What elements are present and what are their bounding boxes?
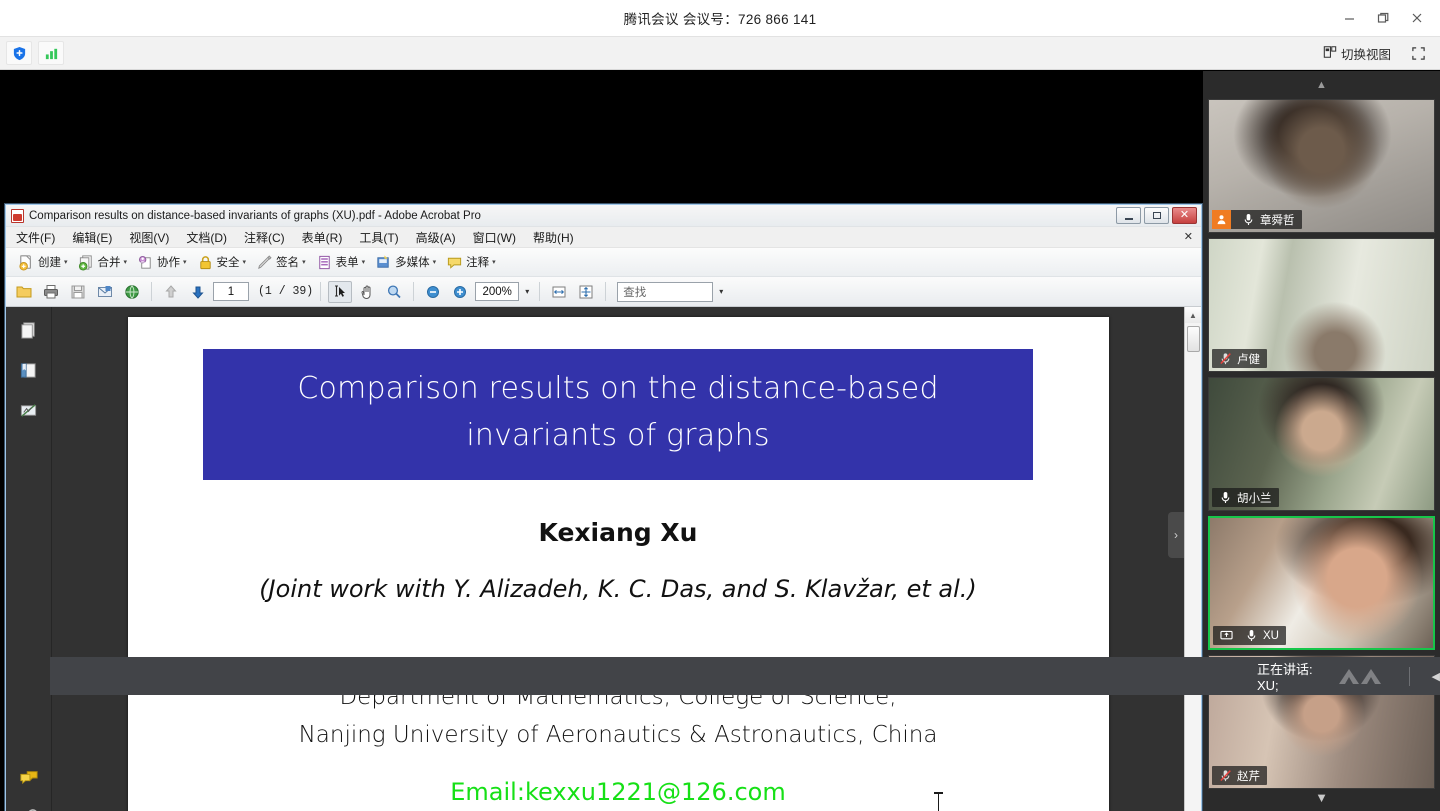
participant-name-chip: 赵芹 [1212, 766, 1267, 785]
zoom-out-icon[interactable] [421, 281, 445, 303]
chevron-down-icon[interactable]: ▾ [243, 258, 247, 266]
menu-window[interactable]: 窗口(W) [473, 229, 516, 246]
toolbar-forms-label: 表单 [336, 254, 359, 270]
create-pdf-icon [18, 254, 35, 271]
toolbar-sign-label: 签名 [276, 254, 299, 270]
menu-forms[interactable]: 表单(R) [302, 229, 343, 246]
shared-screen-stage: Comparison results on distance-based inv… [0, 71, 1203, 811]
acrobat-window: Comparison results on distance-based inv… [5, 204, 1202, 811]
acrobat-window-controls: ✕ [1116, 207, 1197, 224]
toolbar-separator [320, 282, 321, 301]
find-input[interactable]: 查找 [617, 282, 713, 302]
toolbar-combine-label: 合并 [98, 254, 121, 270]
toolbar-separator [605, 282, 606, 301]
participant-name-chip: 胡小兰 [1212, 488, 1279, 507]
toolbar-security-label: 安全 [217, 254, 240, 270]
participant-name: 胡小兰 [1237, 490, 1272, 506]
rail-scroll-up-icon[interactable]: ▲ [1203, 71, 1440, 99]
scroll-up-arrow-icon[interactable]: ▲ [1185, 307, 1202, 323]
slide-author: Kexiang Xu [128, 518, 1109, 547]
print-icon[interactable] [39, 281, 63, 303]
close-button[interactable] [1400, 3, 1434, 33]
slide-affiliation-line-2: Nanjing University of Aeronautics & Astr… [128, 717, 1109, 755]
form-icon [316, 254, 333, 271]
page-thumbnails-icon[interactable] [19, 321, 38, 345]
acrobat-primary-toolbar: 创建 ▾ 合并 ▾ [6, 248, 1201, 277]
pdf-page: Comparison results on the distance-based… [128, 317, 1109, 811]
document-close-button[interactable]: ✕ [1184, 230, 1193, 243]
acrobat-window-title: Comparison results on distance-based inv… [29, 210, 481, 222]
menu-comment[interactable]: 注释(C) [244, 229, 285, 246]
meeting-toolbar-left [0, 41, 64, 65]
meeting-title: 腾讯会议 会议号：726 866 141 [624, 8, 817, 28]
slide-title-line-1: Comparison results on the distance-based [213, 366, 1023, 413]
marquee-zoom-icon[interactable] [382, 281, 406, 303]
pdf-file-icon [11, 209, 24, 223]
chevron-down-icon[interactable]: ▾ [302, 258, 306, 266]
toolbar-create-label: 创建 [38, 254, 61, 270]
acrobat-titlebar: Comparison results on distance-based inv… [6, 205, 1201, 227]
toolbar-multimedia-button[interactable]: 多媒体 ▾ [371, 253, 440, 272]
minimize-button[interactable] [1332, 3, 1366, 33]
toolbar-forms-button[interactable]: 表单 ▾ [312, 253, 370, 272]
slide-email: Email:kexxu1221@126.com [128, 778, 1109, 806]
window-controls [1332, 0, 1434, 36]
find-dropdown-icon[interactable]: ▾ [716, 287, 726, 296]
chevron-down-icon[interactable]: ▾ [183, 258, 187, 266]
pen-sign-icon [256, 254, 273, 271]
participant-tile-active-speaker[interactable]: XU [1208, 516, 1435, 650]
participant-tile[interactable]: 胡小兰 [1208, 377, 1435, 511]
email-icon[interactable] [93, 281, 117, 303]
page-count-label: (1 / 39) [258, 285, 313, 298]
chevron-down-icon[interactable]: ▾ [64, 258, 68, 266]
arrow-down-icon[interactable] [186, 281, 210, 303]
fit-page-icon[interactable] [574, 281, 598, 303]
participant-name: 赵芹 [1237, 768, 1260, 784]
comment-icon [446, 254, 463, 271]
acrobat-restore-button[interactable] [1144, 207, 1169, 224]
maximize-button[interactable] [1366, 3, 1400, 33]
scrollbar-thumb[interactable] [1187, 326, 1200, 352]
arrow-up-icon[interactable] [159, 281, 183, 303]
toolbar-comment-label: 注释 [466, 254, 489, 270]
bookmarks-icon[interactable] [19, 361, 38, 385]
speaking-toast-inner: 正在讲话: XU; ◀ [1257, 659, 1440, 693]
menu-help[interactable]: 帮助(H) [533, 229, 574, 246]
chevron-down-icon[interactable]: ▾ [433, 258, 437, 266]
menu-advanced[interactable]: 高级(A) [416, 229, 456, 246]
toolbar-multimedia-label: 多媒体 [395, 254, 430, 270]
switch-view-button[interactable]: 切换视图 [1316, 41, 1398, 66]
toolbar-separator [413, 282, 414, 301]
text-select-icon[interactable] [328, 281, 352, 303]
speaking-toast-label: 正在讲话: XU; [1257, 659, 1315, 693]
shield-plus-icon[interactable] [6, 41, 32, 65]
toolbar-collaborate-label: 协作 [157, 254, 180, 270]
switch-view-label: 切换视图 [1341, 44, 1391, 63]
pdf-vertical-scrollbar[interactable]: ▲ ▼ [1184, 307, 1201, 811]
participant-name: XU [1263, 630, 1279, 642]
acrobat-secondary-toolbar: 1 (1 / 39) [6, 277, 1201, 307]
participant-tile[interactable]: 章舜哲 [1208, 99, 1435, 233]
participant-tile[interactable]: 卢健 [1208, 238, 1435, 372]
tencent-meeting-logo-icon [1337, 666, 1387, 686]
toolbar-create-button[interactable]: 创建 ▾ [14, 253, 72, 272]
toast-divider [1409, 667, 1410, 686]
meeting-titlebar: 腾讯会议 会议号：726 866 141 [0, 0, 1440, 36]
zoom-dropdown-icon[interactable]: ▾ [522, 287, 532, 296]
slide-joint-work: (Joint work with Y. Alizadeh, K. C. Das,… [128, 575, 1109, 603]
chevron-down-icon[interactable]: ▾ [492, 258, 496, 266]
multimedia-icon [375, 254, 392, 271]
collaborate-icon [137, 254, 154, 271]
participant-rail: ▲ 章舜哲 [1203, 71, 1440, 811]
participant-name-chip: XU [1213, 626, 1286, 645]
fit-width-icon[interactable] [547, 281, 571, 303]
speaking-toast: 正在讲话: XU; ◀ [50, 657, 1440, 695]
lock-icon [197, 254, 214, 271]
signatures-icon[interactable] [19, 401, 38, 425]
meeting-toolbar-right: 切换视图 [1316, 41, 1440, 66]
microphone-muted-icon [1216, 352, 1234, 365]
zoom-in-icon[interactable] [448, 281, 472, 303]
panel-collapse-tab[interactable]: › [1168, 512, 1184, 558]
acrobat-minimize-button[interactable] [1116, 207, 1141, 224]
text-cursor-icon [934, 792, 943, 811]
menu-view[interactable]: 视图(V) [129, 229, 169, 246]
participant-name-chip: 章舜哲 [1212, 210, 1302, 229]
fullscreen-icon[interactable] [1406, 42, 1430, 64]
toolbar-sign-button[interactable]: 签名 ▾ [252, 253, 310, 272]
screen-root: 腾讯会议 会议号：726 866 141 [0, 0, 1440, 811]
hand-icon[interactable] [355, 281, 379, 303]
rail-scroll-down-icon[interactable]: ▼ [1203, 790, 1440, 805]
microphone-muted-icon [1216, 769, 1234, 782]
menu-tools[interactable]: 工具(T) [359, 229, 398, 246]
meeting-toolbar: 切换视图 [0, 36, 1440, 70]
acrobat-close-button[interactable]: ✕ [1172, 207, 1197, 224]
toolbar-security-button[interactable]: 安全 ▾ [193, 253, 251, 272]
open-folder-icon[interactable] [12, 281, 36, 303]
toolbar-comment-button[interactable]: 注释 ▾ [442, 253, 500, 272]
toolbar-combine-button[interactable]: 合并 ▾ [74, 253, 132, 272]
menu-edit[interactable]: 编辑(E) [72, 229, 112, 246]
acrobat-navigation-pane [6, 307, 52, 811]
participant-name-chip: 卢健 [1212, 349, 1267, 368]
comments-icon[interactable] [19, 769, 39, 792]
combine-files-icon [78, 254, 95, 271]
slide-title-banner: Comparison results on the distance-based… [203, 349, 1033, 480]
menu-file[interactable]: 文件(F) [16, 229, 55, 246]
slide-title-line-2: invariants of graphs [213, 413, 1023, 460]
microphone-on-icon [1242, 629, 1260, 642]
pdf-document-viewport[interactable]: Comparison results on the distance-based… [52, 307, 1184, 811]
microphone-on-icon [1239, 213, 1257, 226]
microphone-on-icon [1216, 491, 1234, 504]
participant-name: 卢健 [1237, 351, 1260, 367]
participant-name: 章舜哲 [1260, 212, 1295, 228]
menu-document[interactable]: 文档(D) [186, 229, 227, 246]
toolbar-separator [151, 282, 152, 301]
collapse-left-icon[interactable]: ◀ [1432, 670, 1440, 683]
host-badge-icon [1212, 210, 1231, 229]
switch-view-icon [1323, 45, 1337, 62]
toolbar-separator [539, 282, 540, 301]
screen-share-icon [1217, 630, 1235, 642]
toolbar-collaborate-button[interactable]: 协作 ▾ [133, 253, 191, 272]
save-icon[interactable] [66, 281, 90, 303]
globe-icon[interactable] [120, 281, 144, 303]
bar-chart-icon[interactable] [38, 41, 64, 65]
chevron-down-icon[interactable]: ▾ [124, 258, 128, 266]
acrobat-body: Comparison results on the distance-based… [6, 307, 1201, 811]
chevron-down-icon[interactable]: ▾ [362, 258, 366, 266]
zoom-level-input[interactable]: 200% [475, 282, 519, 301]
page-number-input[interactable]: 1 [213, 282, 249, 301]
acrobat-menubar: 文件(F) 编辑(E) 视图(V) 文档(D) 注释(C) 表单(R) 工具(T… [6, 227, 1201, 248]
